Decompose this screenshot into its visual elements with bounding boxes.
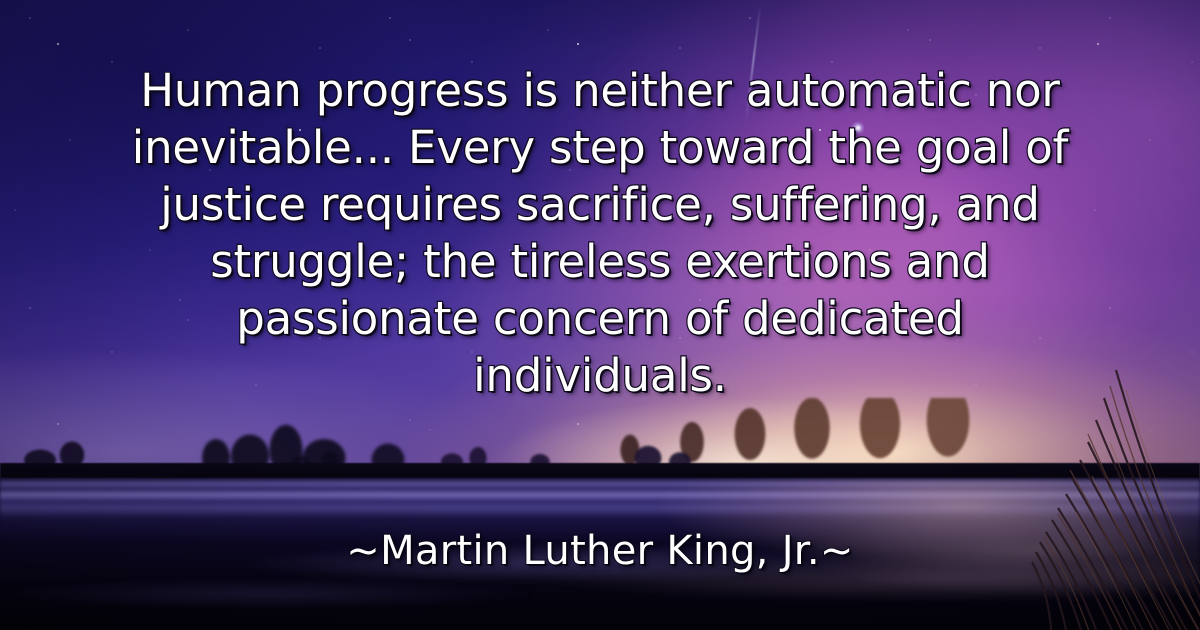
quote-text-block: Human progress is neither automatic nor … [0,62,1200,404]
quote-line-3: justice requires sacrifice, suffering, a… [26,176,1174,233]
quote-line-6: individuals. [26,347,1174,404]
attribution: ~Martin Luther King, Jr.~ [0,527,1200,575]
quote-line-2: inevitable... Every step toward the goal… [26,119,1174,176]
quote-line-4: struggle; the tireless exertions and [26,233,1174,290]
quote-line-5: passionate concern of dedicated [26,290,1174,347]
quote-line-1: Human progress is neither automatic nor [26,62,1174,119]
attribution-text: ~Martin Luther King, Jr.~ [346,528,853,574]
quote-card: Human progress is neither automatic nor … [0,0,1200,630]
